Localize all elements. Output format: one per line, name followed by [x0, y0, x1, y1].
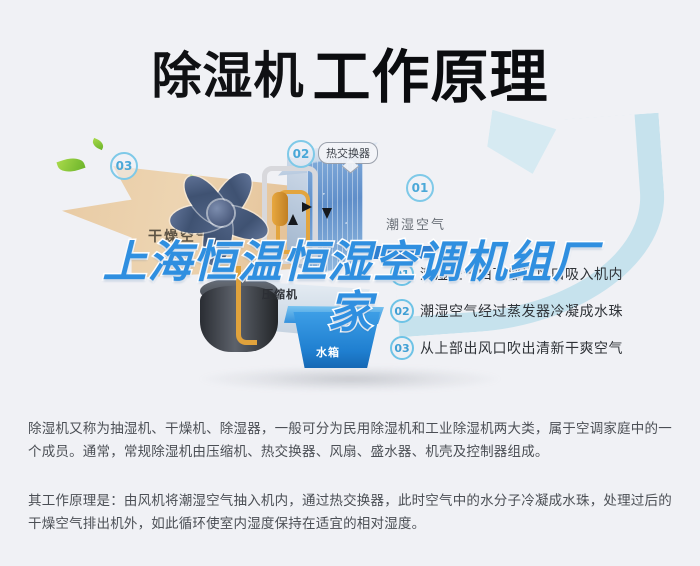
step-marker-03: 03	[110, 152, 138, 180]
humid-air-label: 潮湿空气	[386, 214, 446, 233]
step-marker-01: 01	[406, 174, 434, 202]
list-item: 03 从上部出风口吹出清新干爽空气	[390, 336, 690, 360]
fan-icon	[168, 162, 280, 266]
page-title: 除湿机工作原理	[0, 30, 700, 114]
compressor-pipe-icon	[236, 266, 257, 345]
legend-number: 01	[390, 262, 414, 286]
flow-arrow-icon	[288, 214, 298, 225]
body-paragraph-2: 其工作原理是：由风机将潮湿空气抽入机内，通过热交换器，此时空气中的水分子冷凝成水…	[28, 490, 676, 536]
flow-arrow-icon	[302, 202, 312, 212]
step-marker-02: 02	[287, 140, 315, 168]
body-paragraph-1: 除湿机又称为抽湿机、干燥机、除湿器，一般可分为民用除湿机和工业除湿机两大类，属于…	[28, 418, 676, 464]
compressor-label: 压缩机	[262, 286, 298, 302]
leaf-icon	[91, 138, 105, 150]
legend-number: 02	[390, 299, 414, 323]
legend-text: 潮湿空气由下部进风口吸入机内	[420, 264, 623, 284]
list-item: 01 潮湿空气由下部进风口吸入机内	[390, 262, 690, 286]
flow-arrow-icon	[322, 208, 332, 219]
leaf-icon	[56, 154, 85, 175]
list-item: 02 潮湿空气经过蒸发器冷凝成水珠	[390, 299, 690, 323]
legend-text: 从上部出风口吹出清新干爽空气	[420, 338, 623, 358]
infographic-page: 除湿机工作原理 干燥空气 压缩机	[0, 0, 700, 566]
water-tank-label: 水箱	[316, 344, 340, 360]
air-intake-arrow-icon	[360, 246, 434, 259]
title-part-subject: 除湿机	[151, 47, 304, 105]
legend-number: 03	[390, 336, 414, 360]
legend-text: 潮湿空气经过蒸发器冷凝成水珠	[420, 301, 623, 321]
heat-exchanger-callout: 热交换器	[318, 142, 378, 164]
fan-hub	[208, 200, 234, 226]
title-part-principle: 工作原理	[312, 43, 548, 111]
legend-list: 01 潮湿空气由下部进风口吸入机内 02 潮湿空气经过蒸发器冷凝成水珠 03 从…	[390, 262, 690, 373]
